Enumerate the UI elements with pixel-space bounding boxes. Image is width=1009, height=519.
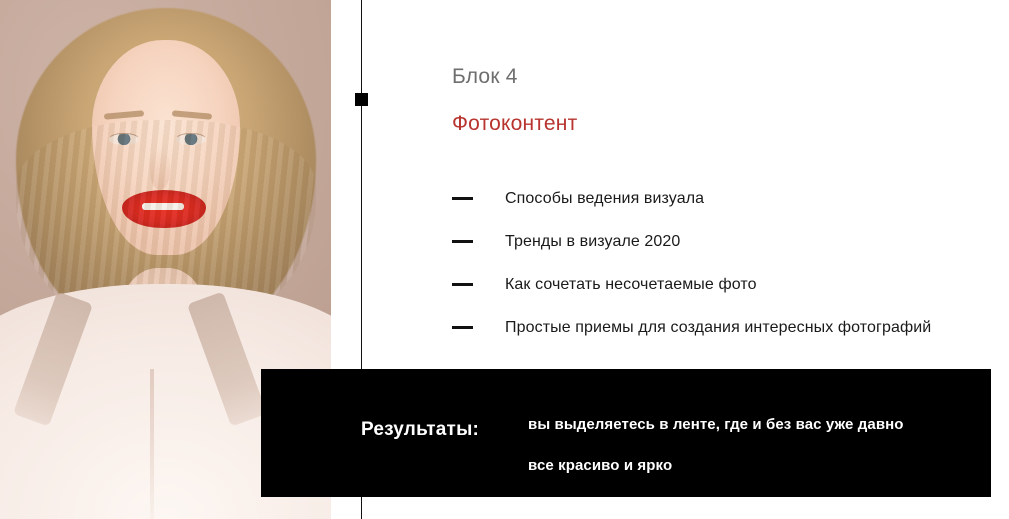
results-line-2: все красиво и ярко: [528, 445, 968, 486]
dash-bullet-icon: [452, 240, 473, 243]
results-panel: Результаты: вы выделяетесь в ленте, где …: [261, 369, 991, 497]
shirt-placket: [150, 369, 154, 519]
topic-label: Как сочетать несочетаемые фото: [505, 276, 757, 294]
topic-label: Тренды в визуале 2020: [505, 233, 680, 251]
topic-list: Способы ведения визуала Тренды в визуале…: [452, 177, 997, 349]
block-number-label: Блок 4: [452, 66, 992, 87]
results-text: вы выделяетесь в ленте, где и без вас уж…: [528, 404, 968, 486]
dash-bullet-icon: [452, 197, 473, 200]
results-label: Результаты:: [310, 419, 530, 441]
block-header: Блок 4 Фотоконтент: [452, 66, 992, 134]
topic-label: Простые приемы для создания интересных ф…: [505, 319, 931, 337]
results-line-1: вы выделяетесь в ленте, где и без вас уж…: [528, 404, 968, 445]
list-item: Способы ведения визуала: [452, 177, 997, 220]
slide-canvas: Блок 4 Фотоконтент Способы ведения визуа…: [0, 0, 1009, 519]
topic-label: Способы ведения визуала: [505, 190, 704, 208]
list-item: Как сочетать несочетаемые фото: [452, 263, 997, 306]
dash-bullet-icon: [452, 283, 473, 286]
block-title-label: Фотоконтент: [452, 113, 992, 134]
timeline-square-marker-icon: [355, 93, 368, 106]
list-item: Простые приемы для создания интересных ф…: [452, 306, 997, 349]
dash-bullet-icon: [452, 326, 473, 329]
list-item: Тренды в визуале 2020: [452, 220, 997, 263]
